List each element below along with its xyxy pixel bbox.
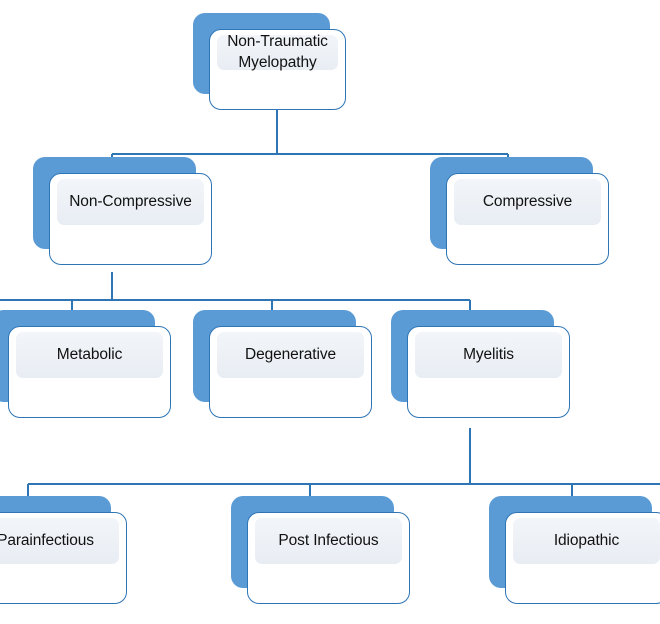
node-metabolic[interactable]: Metabolic: [0, 310, 155, 402]
node-idiopathic[interactable]: Idiopathic: [489, 496, 652, 588]
node-inner-panel: Non-Traumatic Myelopathy: [217, 35, 338, 70]
node-label: Metabolic: [53, 345, 126, 366]
node-parainfectious[interactable]: Parainfectious: [0, 496, 111, 588]
node-inner-panel: Idiopathic: [513, 518, 660, 564]
node-inner-panel: Degenerative: [217, 332, 364, 378]
node-label: Idiopathic: [550, 531, 623, 552]
node-label: Degenerative: [241, 345, 340, 366]
node-label: Non-Traumatic Myelopathy: [223, 32, 332, 74]
node-non-compressive[interactable]: Non-Compressive: [33, 157, 196, 249]
node-inner-panel: Compressive: [454, 179, 601, 225]
flowchart-canvas: Non-Traumatic Myelopathy Non-Compressive…: [0, 0, 660, 624]
node-myelitis[interactable]: Myelitis: [391, 310, 554, 402]
node-compressive[interactable]: Compressive: [430, 157, 593, 249]
node-non-traumatic-myelopathy[interactable]: Non-Traumatic Myelopathy: [193, 13, 330, 94]
node-label: Post Infectious: [274, 531, 382, 552]
node-post-infectious[interactable]: Post Infectious: [231, 496, 394, 588]
node-inner-panel: Non-Compressive: [57, 179, 204, 225]
node-label: Non-Compressive: [65, 192, 196, 213]
node-inner-panel: Parainfectious: [0, 518, 119, 564]
node-inner-panel: Post Infectious: [255, 518, 402, 564]
node-label: Myelitis: [459, 345, 518, 366]
node-inner-panel: Myelitis: [415, 332, 562, 378]
node-label: Compressive: [479, 192, 576, 213]
node-degenerative[interactable]: Degenerative: [193, 310, 356, 402]
node-inner-panel: Metabolic: [16, 332, 163, 378]
node-label: Parainfectious: [0, 531, 98, 552]
